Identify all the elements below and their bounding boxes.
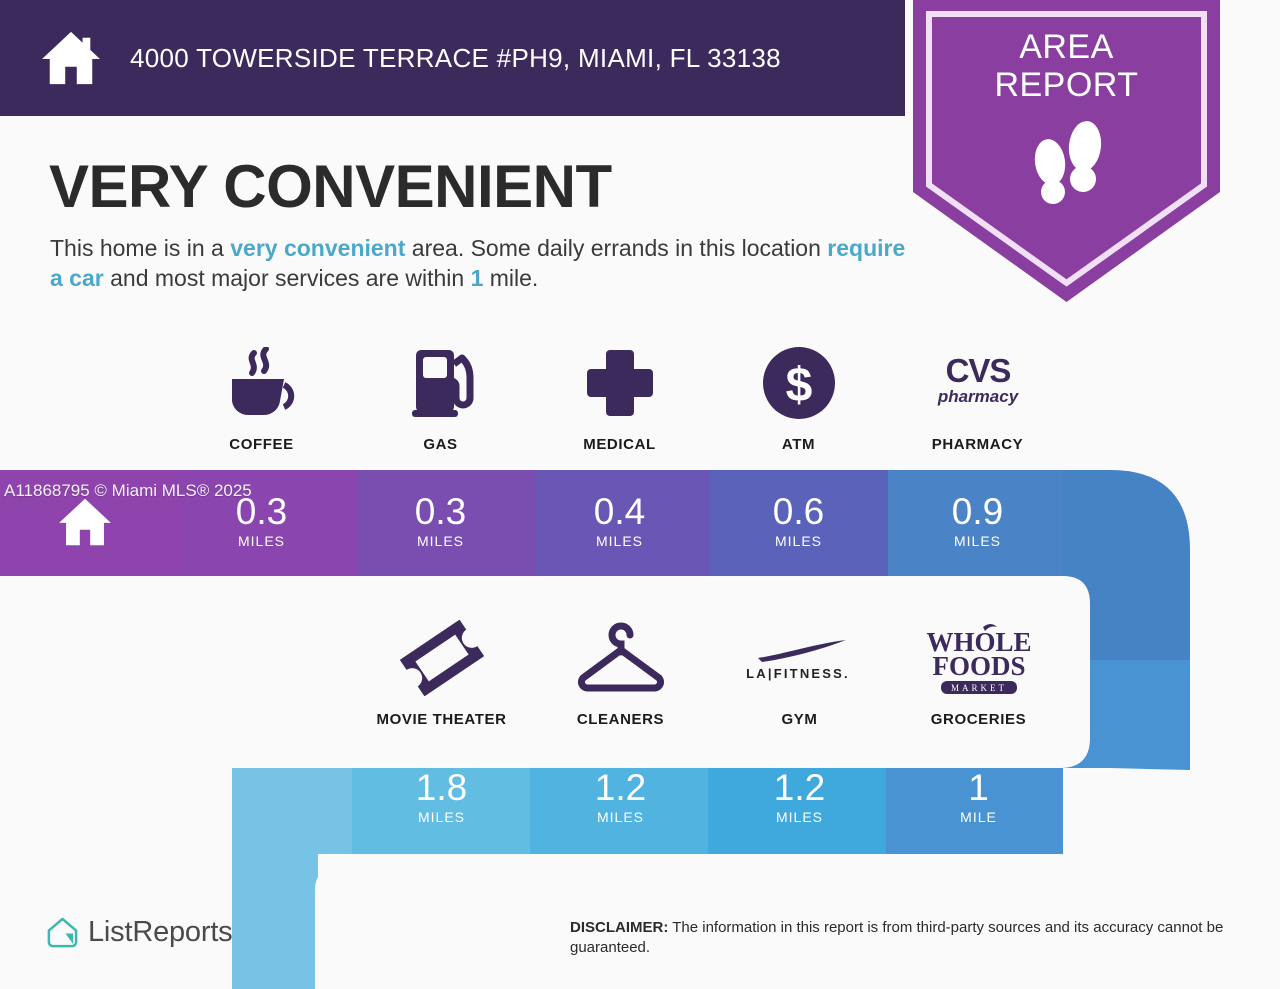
ticket-icon: [400, 620, 484, 696]
distance-value: 1.2: [710, 768, 889, 808]
header-bar: 4000 TOWERSIDE TERRACE #PH9, MIAMI, FL 3…: [0, 0, 905, 116]
amenity-atm: $ ATM: [709, 340, 888, 453]
amenity-groceries: WHOLE FOODS MARKET GROCERIES: [889, 615, 1068, 728]
distance-unit: MILES: [352, 809, 531, 825]
amenity-label: GYM: [710, 711, 889, 728]
distance-unit: MILES: [530, 533, 709, 549]
distance-value: 1.2: [531, 768, 710, 808]
amenity-label: GAS: [351, 436, 530, 453]
distance-unit: MILES: [710, 809, 889, 825]
amenity-cleaners: CLEANERS: [531, 615, 710, 728]
house-marker-icon: [57, 497, 113, 547]
amenity-medical: MEDICAL: [530, 340, 709, 453]
gas-pump-icon: [408, 346, 474, 420]
watermark-text: A11868795 © Miami MLS® 2025: [4, 481, 252, 500]
listreports-house-icon: [46, 916, 79, 949]
distance-unit: MILES: [172, 533, 351, 549]
distance-value: 1: [889, 768, 1068, 808]
summary-mile-number: 1: [471, 265, 484, 291]
ribbon-left-turn: [232, 768, 320, 989]
amenity-gas: GAS: [351, 340, 530, 453]
ribbon-right-turn: [1063, 576, 1190, 768]
la-fitness-logo: LA|FITNESS.: [740, 628, 860, 688]
summary-part-4: mile.: [483, 265, 538, 291]
distance-cell: 1.2 MILES: [710, 768, 889, 825]
summary-part-1: This home is in a: [50, 235, 230, 261]
medical-cross-icon: [585, 348, 655, 418]
area-report-badge: AREA REPORT: [913, 0, 1220, 302]
clothes-hanger-icon: [575, 622, 667, 694]
svg-text:LA|FITNESS.: LA|FITNESS.: [746, 666, 850, 681]
distance-unit: MILES: [351, 533, 530, 549]
summary-text: This home is in a very convenient area. …: [50, 233, 910, 293]
row-2-distances: 1.8 MILES 1.2 MILES 1.2 MILES 1 MILE: [352, 768, 1068, 825]
house-icon: [40, 30, 102, 86]
svg-text:CVS: CVS: [945, 352, 1010, 389]
svg-text:MARKET: MARKET: [951, 683, 1007, 693]
disclaimer: DISCLAIMER: The information in this repo…: [570, 918, 1230, 958]
distance-value: 0.9: [888, 492, 1067, 532]
distance-unit: MILES: [709, 533, 888, 549]
distance-cell: 1.8 MILES: [352, 768, 531, 825]
summary-part-2: area. Some daily errands in this locatio…: [405, 235, 827, 261]
amenity-label: MOVIE THEATER: [352, 711, 531, 728]
whole-foods-logo: WHOLE FOODS MARKET: [917, 619, 1041, 697]
amenity-gym: LA|FITNESS. GYM: [710, 615, 889, 728]
distance-unit: MILES: [531, 809, 710, 825]
dollar-circle-icon: $: [761, 345, 837, 421]
listreports-wordmark: ListReports: [88, 916, 232, 949]
svg-text:$: $: [785, 359, 812, 412]
distance-cell: 1.2 MILES: [531, 768, 710, 825]
amenity-coffee: COFFEE: [172, 340, 351, 453]
listreports-logo: ListReports: [46, 916, 232, 949]
summary-highlight-1: very convenient: [230, 235, 405, 261]
distance-unit: MILES: [888, 533, 1067, 549]
distance-unit: MILE: [889, 809, 1068, 825]
amenity-label: CLEANERS: [531, 711, 710, 728]
svg-text:pharmacy: pharmacy: [936, 387, 1019, 406]
distance-cell: 0.6 MILES: [709, 492, 888, 549]
disclaimer-text: The information in this report is from t…: [570, 919, 1223, 956]
mls-watermark: A11868795 © Miami MLS® 2025: [4, 481, 252, 501]
distance-cell: 1 MILE: [889, 768, 1068, 825]
coffee-cup-icon: [224, 347, 300, 419]
svg-text:FOODS: FOODS: [932, 651, 1025, 681]
distance-cell: 0.4 MILES: [530, 492, 709, 549]
page-title: VERY CONVENIENT: [49, 152, 612, 221]
distance-cell: 0.3 MILES: [351, 492, 530, 549]
distance-value: 0.3: [351, 492, 530, 532]
row-1-distances: 0.3 MILES 0.3 MILES 0.4 MILES 0.6 MILES …: [172, 492, 1067, 549]
property-address: 4000 TOWERSIDE TERRACE #PH9, MIAMI, FL 3…: [130, 43, 781, 74]
amenity-label: COFFEE: [172, 436, 351, 453]
disclaimer-label: DISCLAIMER:: [570, 919, 668, 936]
amenity-label: GROCERIES: [889, 711, 1068, 728]
cvs-pharmacy-logo: CVS pharmacy: [918, 352, 1038, 414]
distance-value: 1.8: [352, 768, 531, 808]
amenity-label: MEDICAL: [530, 436, 709, 453]
row-1-icons: COFFEE GAS MEDICAL $ ATM CVS pharmacy PH…: [172, 340, 1067, 453]
summary-part-3: and most major services are within: [104, 265, 471, 291]
amenity-label: ATM: [709, 436, 888, 453]
distance-cell: 0.9 MILES: [888, 492, 1067, 549]
row-2-icons: MOVIE THEATER CLEANERS LA|FITNESS. GYM W…: [352, 615, 1068, 728]
distance-value: 0.6: [709, 492, 888, 532]
amenity-label: PHARMACY: [888, 436, 1067, 453]
distance-value: 0.4: [530, 492, 709, 532]
amenity-pharmacy: CVS pharmacy PHARMACY: [888, 340, 1067, 453]
amenity-movie-theater: MOVIE THEATER: [352, 615, 531, 728]
